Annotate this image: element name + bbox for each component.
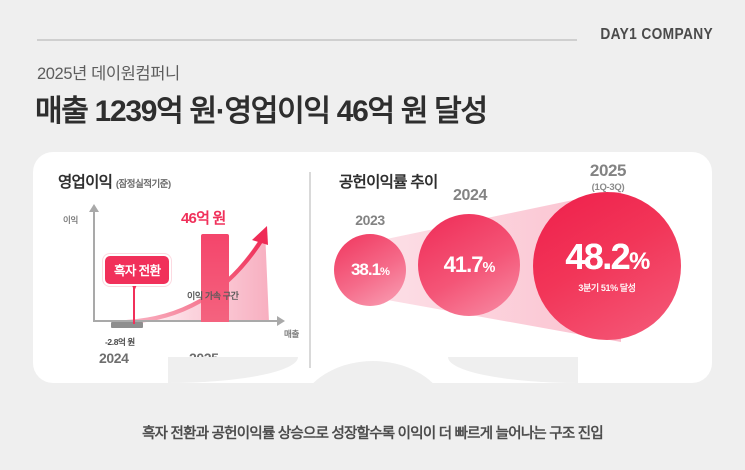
bubble-2024-unit: % — [482, 260, 494, 276]
bar-2025 — [201, 234, 229, 322]
bubble-2023-value: 38.1% — [351, 261, 389, 278]
y-axis-arrow — [89, 204, 99, 212]
y-axis-label: 이익 — [63, 214, 78, 226]
page-title: 매출 1239억 원·영업이익 46억 원 달성 — [35, 86, 487, 130]
bubble-2023-number: 38.1 — [351, 260, 380, 279]
turnaround-badge: 흑자 전환 — [103, 254, 171, 286]
bubble-2025-note: 3분기 51% 달성 — [578, 281, 635, 294]
bubble-2024-number: 41.7 — [444, 252, 483, 277]
bubble-2025-unit: % — [629, 248, 649, 275]
bubble-2023-unit: % — [380, 266, 389, 278]
value-label-2025: 46억 원 — [181, 207, 225, 228]
bubble-year-2024-text: 2024 — [453, 187, 487, 204]
bubble-2025-number: 48.2 — [565, 236, 629, 277]
x-axis-label: 매출 — [284, 328, 299, 340]
brand-divider-rule — [37, 39, 577, 41]
brand-logo-text: DAY1 COMPANY — [600, 26, 713, 44]
operating-profit-panel: 영업이익 (잠정실적기준) — [33, 152, 309, 383]
bubble-2024: 41.7% — [418, 214, 520, 316]
content-card: 영업이익 (잠정실적기준) — [33, 152, 712, 383]
x-tick-2024: 2024 — [99, 350, 129, 366]
infographic-root: DAY1 COMPANY 2025년 데이원컴퍼니 매출 1239억 원·영업이… — [0, 0, 745, 470]
bubble-2025-value: 48.2% — [565, 239, 648, 275]
eyebrow-text: 2025년 데이원컴퍼니 — [37, 60, 180, 84]
operating-profit-chart: 이익 매출 46억 원 -2.8억 원 흑자 전환 이익 가속 구간 — [55, 204, 295, 354]
y-axis-line — [93, 210, 95, 322]
callout-pointer — [133, 284, 135, 324]
brand-row: DAY1 COMPANY — [0, 28, 745, 52]
left-panel-title-subnote: (잠정실적기준) — [116, 179, 171, 190]
value-label-2024: -2.8억 원 — [105, 336, 135, 348]
bubble-year-2024: 2024 — [425, 187, 515, 205]
left-panel-title: 영업이익 (잠정실적기준) — [58, 170, 171, 192]
contribution-margin-panel: 공헌이익률 추이 2023 38.1% — [311, 152, 712, 383]
acceleration-zone-label: 이익 가속 구간 — [187, 289, 238, 302]
profit-acceleration-curve — [55, 204, 295, 354]
bubble-year-2023: 2023 — [337, 212, 403, 228]
bubble-year-2025-text: 2025 — [590, 161, 626, 180]
right-panel-title: 공헌이익률 추이 — [339, 170, 438, 192]
x-axis-arrow — [277, 316, 285, 326]
bubble-year-2025: 2025 (1Q-3Q) — [553, 161, 663, 193]
bubble-2023: 38.1% — [334, 234, 406, 306]
contribution-margin-bubbles: 2023 38.1% 2024 41.7% 2025 ( — [321, 192, 712, 377]
bubble-year-2023-text: 2023 — [355, 212, 385, 228]
bar-2024 — [111, 322, 143, 328]
footer-summary-text: 흑자 전환과 공헌이익률 상승으로 성장할수록 이익이 더 빠르게 늘어나는 구… — [0, 422, 745, 443]
left-panel-title-text: 영업이익 — [58, 174, 112, 191]
bubble-2025: 48.2% 3분기 51% 달성 — [533, 192, 681, 340]
bubble-2024-value: 41.7% — [444, 254, 495, 276]
curve-arrow-head — [252, 226, 268, 245]
